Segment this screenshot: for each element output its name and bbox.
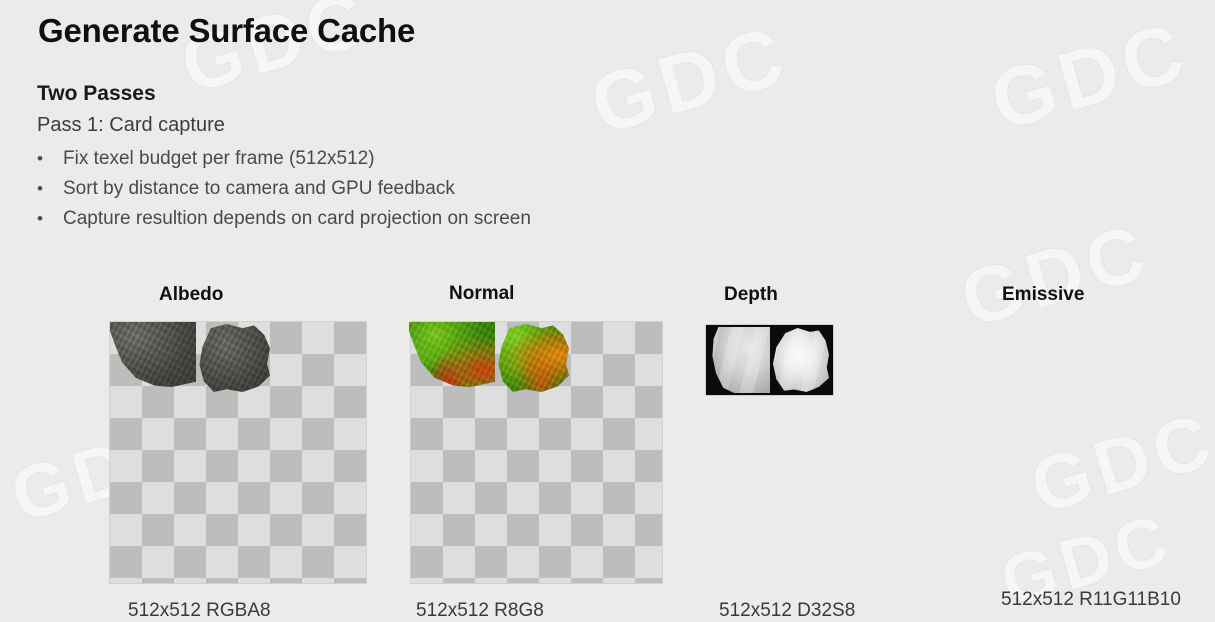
bullet-dot-icon: • (37, 144, 63, 174)
column-caption-emissive: 512x512 R11G11B10 (1001, 589, 1181, 611)
list-item-label: Capture resultion depends on card projec… (63, 204, 531, 234)
normal-card-texture (497, 324, 569, 392)
gdc-watermark-icon: GDC (581, 8, 799, 154)
list-item: • Capture resultion depends on card proj… (37, 204, 937, 234)
depth-facet-overlay (773, 328, 829, 392)
column-caption-depth: 512x512 D32S8 (719, 600, 855, 622)
normal-warm-overlay (409, 322, 495, 387)
depth-card-texture (773, 328, 829, 392)
gdc-watermark-icon: GDC (981, 4, 1199, 150)
albedo-card-texture (198, 324, 270, 392)
column-header-albedo: Albedo (159, 284, 223, 306)
bullet-list: • Fix texel budget per frame (512x512) •… (37, 144, 937, 234)
gdc-watermark-icon: GDC (951, 205, 1160, 345)
section-subheading: Two Passes (37, 82, 156, 106)
column-caption-albedo: 512x512 RGBA8 (128, 600, 271, 622)
column-caption-normal: 512x512 R8G8 (416, 600, 544, 622)
albedo-checkerboard-panel (110, 322, 366, 583)
bullet-dot-icon: • (37, 204, 63, 234)
normal-card-texture (409, 322, 495, 387)
normal-warm-overlay (497, 324, 569, 392)
depth-card-texture (710, 327, 770, 393)
column-header-depth: Depth (724, 284, 778, 306)
column-header-normal: Normal (449, 283, 514, 305)
list-item-label: Sort by distance to camera and GPU feedb… (63, 174, 455, 204)
list-item: • Fix texel budget per frame (512x512) (37, 144, 937, 174)
normal-checkerboard-panel (411, 322, 662, 583)
bullet-dot-icon: • (37, 174, 63, 204)
depth-facet-overlay (710, 327, 770, 393)
albedo-card-texture (110, 322, 196, 387)
pass-label: Pass 1: Card capture (37, 114, 225, 137)
depth-image-panel (706, 325, 833, 395)
column-header-emissive: Emissive (1002, 284, 1084, 306)
page-title: Generate Surface Cache (38, 12, 415, 50)
gdc-watermark-icon: GDC (1022, 396, 1215, 531)
list-item: • Sort by distance to camera and GPU fee… (37, 174, 937, 204)
list-item-label: Fix texel budget per frame (512x512) (63, 144, 375, 174)
